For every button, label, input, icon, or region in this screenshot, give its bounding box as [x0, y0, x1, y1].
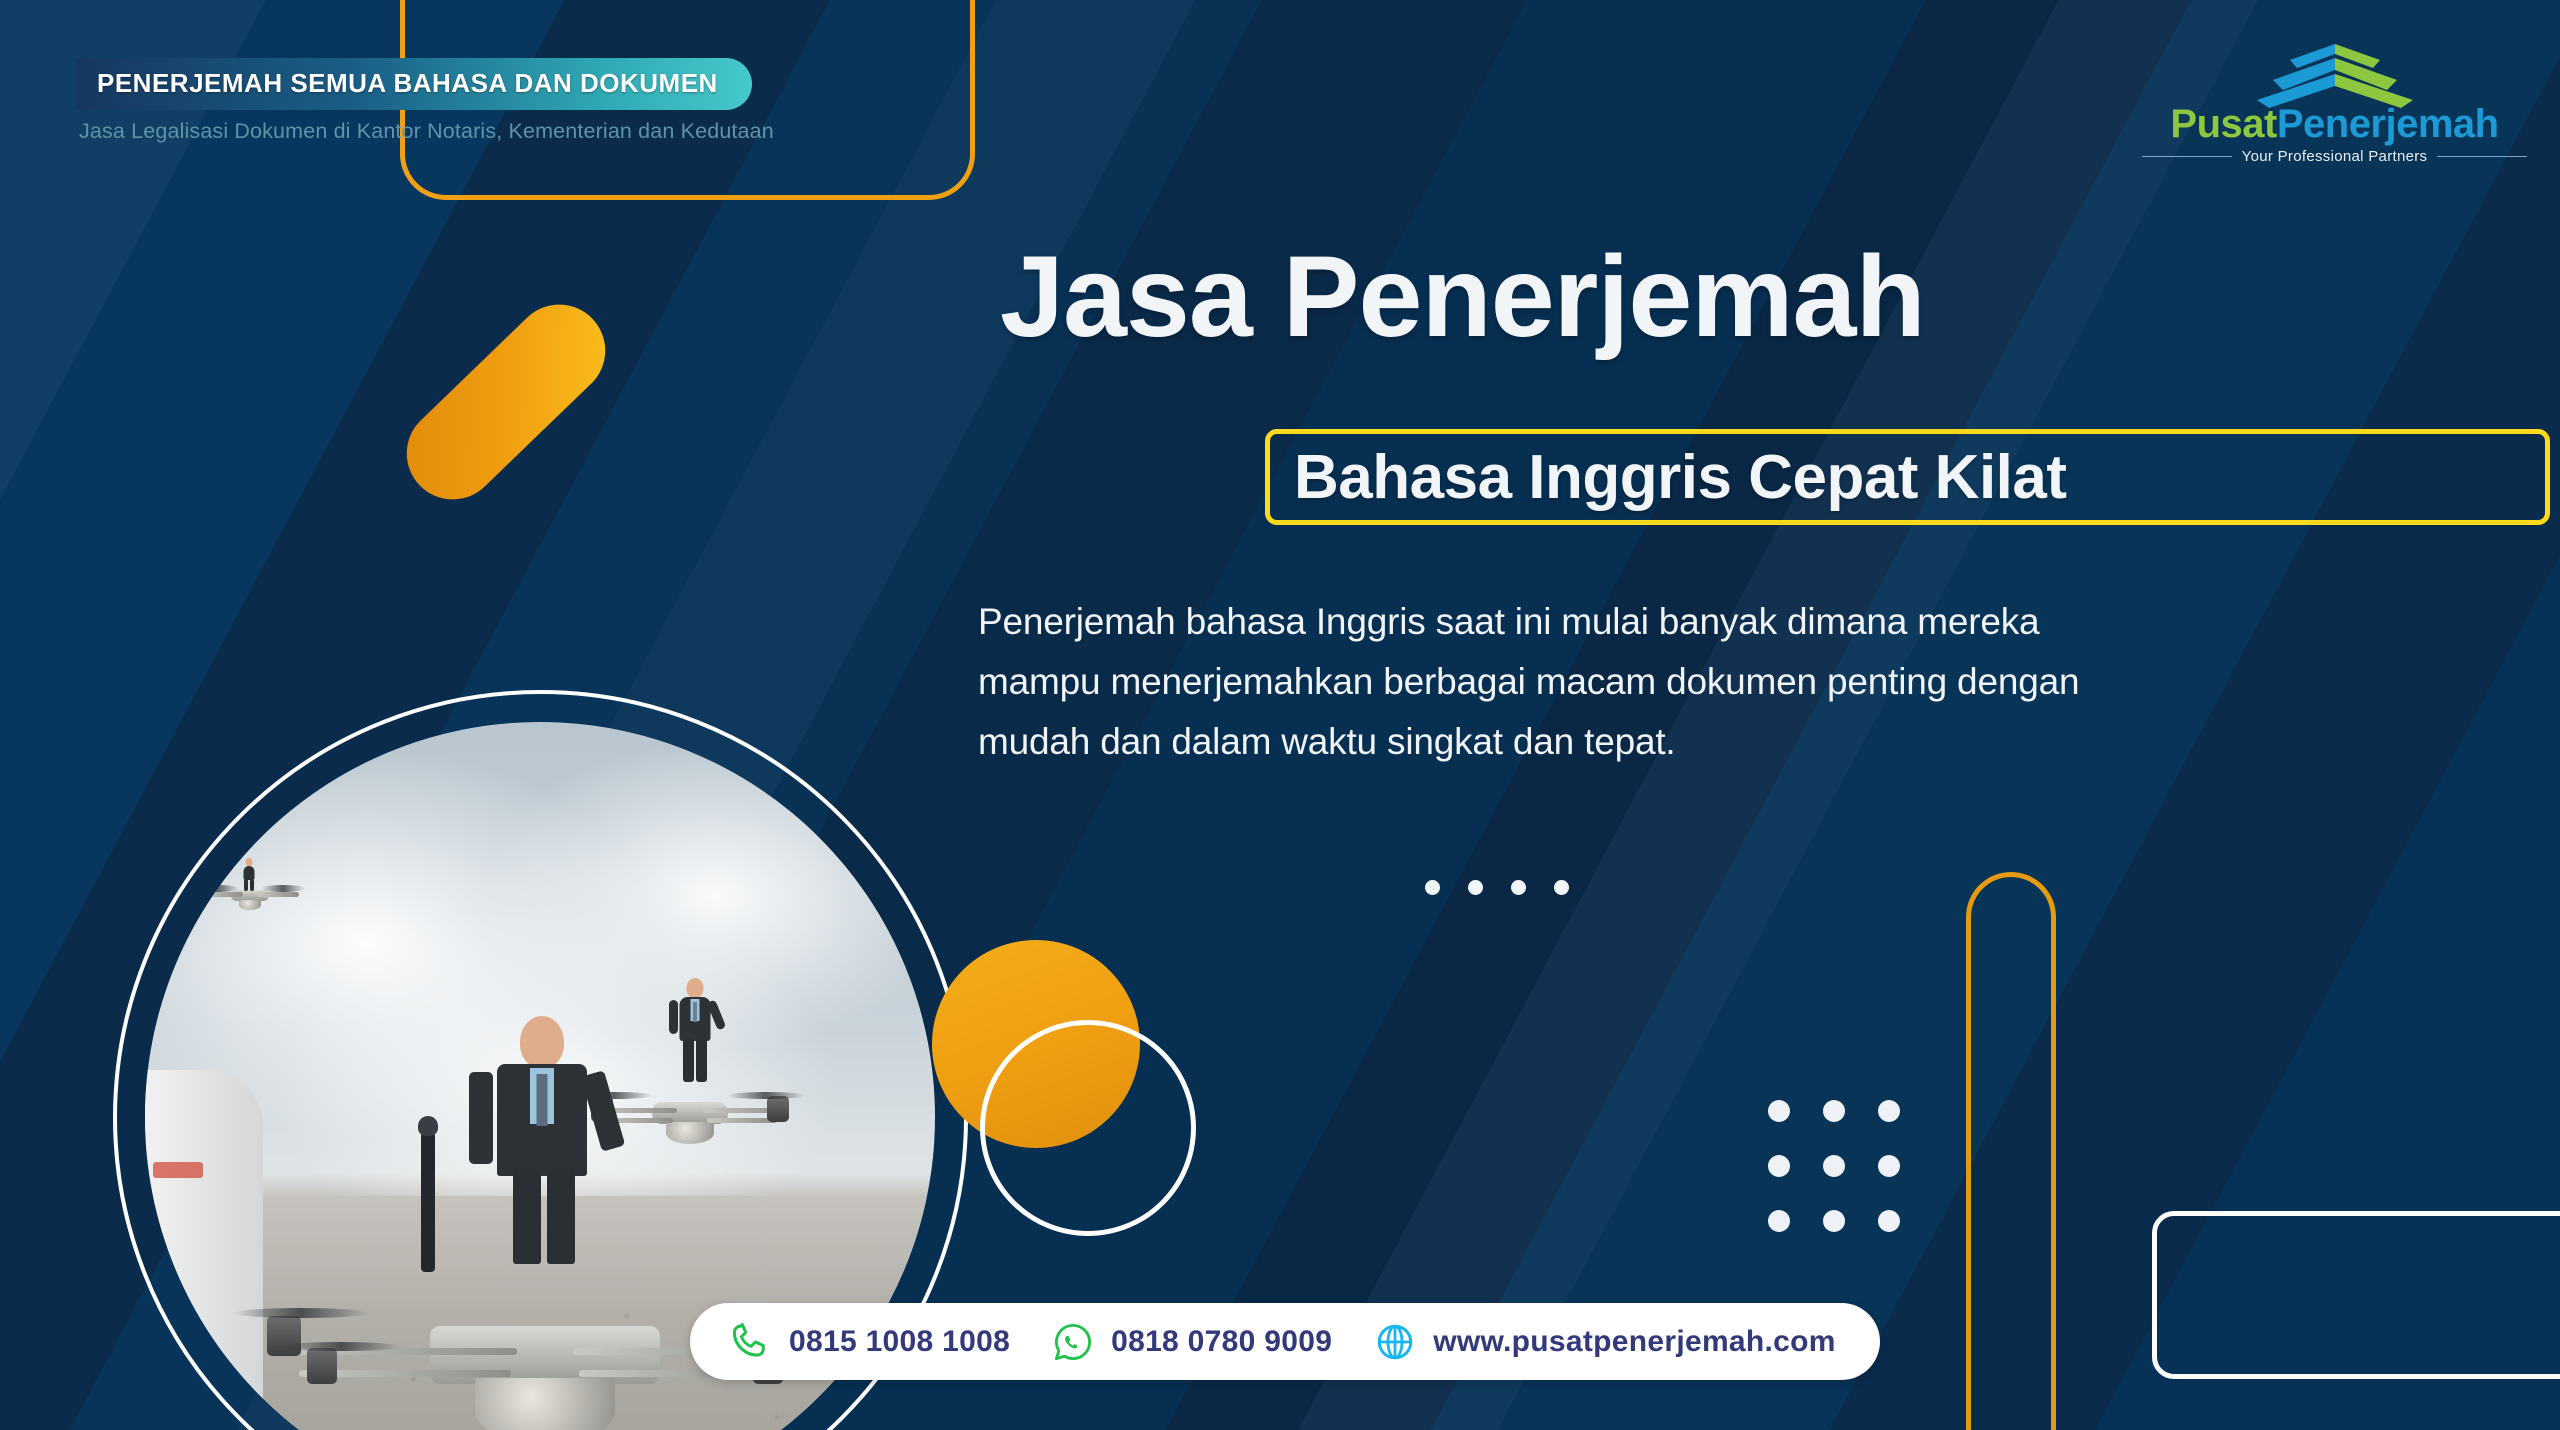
contact-website[interactable]: www.pusatpenerjemah.com: [1374, 1321, 1836, 1363]
umbrella-icon: [421, 1132, 435, 1272]
separator-dot: [1554, 880, 1569, 895]
header-badge-group: PENERJEMAH SEMUA BAHASA DAN DOKUMEN Jasa…: [75, 58, 845, 144]
separator-dot: [1511, 880, 1526, 895]
whatsapp-number: 0818 0780 9009: [1111, 1325, 1332, 1359]
website-url: www.pusatpenerjemah.com: [1433, 1325, 1836, 1359]
contact-bar: 0815 1008 1008 0818 0780 9009 www.pusatp…: [690, 1303, 1880, 1380]
page-title: Jasa Penerjemah: [1000, 240, 2420, 355]
man-figure-far: [237, 858, 261, 892]
badge-title: PENERJEMAH SEMUA BAHASA DAN DOKUMEN: [75, 58, 752, 110]
logo-tagline-row: Your Professional Partners: [2142, 148, 2527, 165]
whatsapp-icon: [1052, 1321, 1094, 1363]
subheadline-text: Bahasa Inggris Cepat Kilat: [1270, 442, 2067, 513]
phone-handset-icon: [730, 1321, 772, 1363]
tagline-rule-right: [2437, 156, 2527, 157]
body-paragraph: Penerjemah bahasa Inggris saat ini mulai…: [978, 592, 2158, 772]
orange-u-shape-decor: [1966, 872, 2056, 1430]
white-ring-decor: [980, 1020, 1196, 1236]
brand-logo[interactable]: PusatPenerjemah Your Professional Partne…: [2142, 42, 2527, 165]
separator-dot: [1468, 880, 1483, 895]
building-roof-logo-icon: [2235, 42, 2435, 108]
man-figure-mid: [663, 978, 727, 1084]
white-rounded-box-decor: [2152, 1211, 2560, 1379]
separator-dot: [1425, 880, 1440, 895]
globe-icon: [1374, 1321, 1416, 1363]
phone-number: 0815 1008 1008: [789, 1325, 1010, 1359]
banner-canvas: PENERJEMAH SEMUA BAHASA DAN DOKUMEN Jasa…: [0, 0, 2560, 1430]
logo-wordmark: PusatPenerjemah: [2142, 104, 2527, 144]
logo-tagline: Your Professional Partners: [2242, 148, 2428, 165]
logo-word-penerjemah: Penerjemah: [2277, 102, 2499, 146]
subheadline-box: Bahasa Inggris Cepat Kilat: [1265, 429, 2550, 525]
tagline-rule-left: [2142, 156, 2232, 157]
drone-small-far: [195, 872, 305, 916]
badge-subtitle: Jasa Legalisasi Dokumen di Kantor Notari…: [75, 119, 845, 144]
logo-word-pusat: Pusat: [2170, 102, 2276, 146]
man-figure-main: [457, 1016, 627, 1264]
contact-phone[interactable]: 0815 1008 1008: [730, 1321, 1010, 1363]
dots-grid-decor: [1768, 1100, 1900, 1232]
dot-separator: [1425, 880, 1569, 895]
contact-whatsapp[interactable]: 0818 0780 9009: [1052, 1321, 1332, 1363]
